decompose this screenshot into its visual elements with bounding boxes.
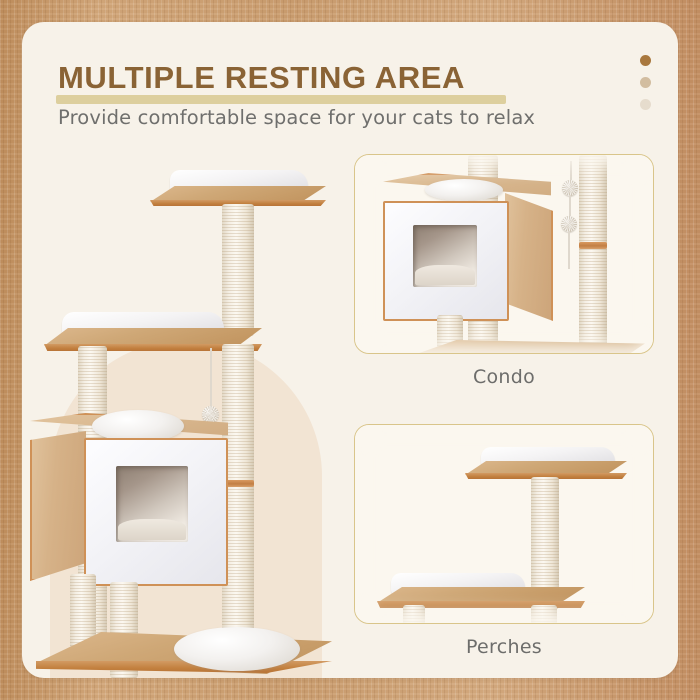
page-subtitle: Provide comfortable space for your cats … — [58, 106, 535, 129]
dot-secondary[interactable] — [640, 77, 651, 88]
upper-sisal-post — [222, 204, 254, 336]
base-round-cushion — [174, 627, 300, 671]
dot-tertiary[interactable] — [640, 99, 651, 110]
panel-condo[interactable] — [354, 154, 654, 354]
top-perch-board-top — [150, 186, 326, 202]
page-title: MULTIPLE RESTING AREA — [58, 60, 465, 96]
panel-perches[interactable] — [354, 424, 654, 624]
base-board-edge — [36, 661, 332, 673]
dot-active[interactable] — [640, 55, 651, 66]
condo-panel-vignette — [355, 155, 653, 353]
hero-product-image — [22, 134, 352, 678]
cat-tree-illustration — [22, 134, 352, 678]
pom-pom-toy — [202, 406, 219, 423]
panel-condo-caption: Condo — [354, 366, 654, 388]
condo-interior-floor — [118, 519, 186, 540]
infographic-card: MULTIPLE RESTING AREA Provide comfortabl… — [22, 22, 678, 678]
perches-panel-vignette — [355, 425, 653, 623]
title-underline — [56, 95, 506, 104]
page-title-text: MULTIPLE RESTING AREA — [58, 60, 465, 96]
header: MULTIPLE RESTING AREA Provide comfortabl… — [22, 22, 678, 148]
toy-string — [210, 348, 212, 410]
condo-box-left-side — [30, 431, 86, 581]
detail-panels: Condo Perches — [344, 134, 678, 678]
panel-perches-caption: Perches — [354, 636, 654, 658]
carousel-dots[interactable] — [640, 55, 651, 110]
